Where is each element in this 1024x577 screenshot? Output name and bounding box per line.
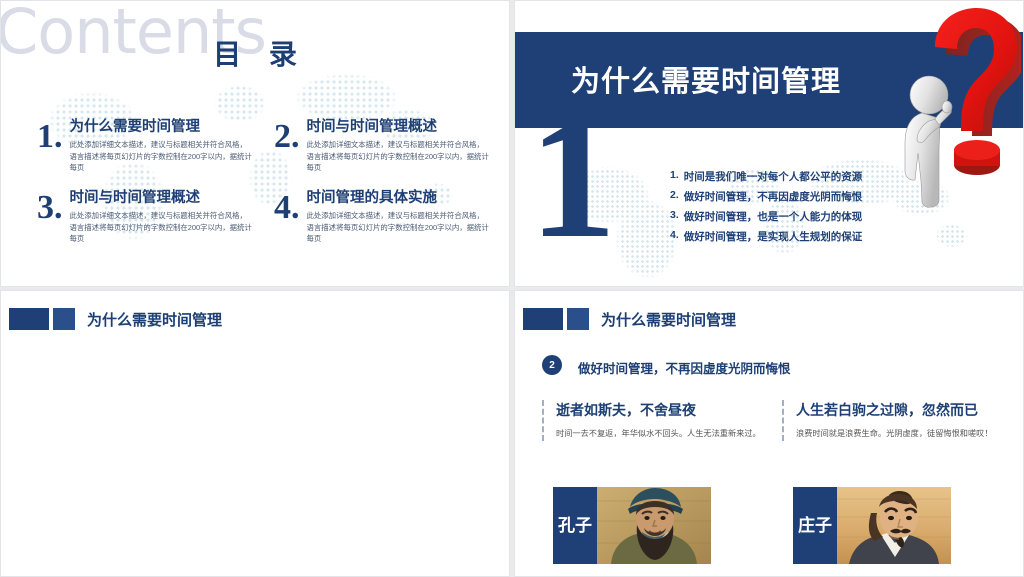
list-item-number: 2. — [670, 189, 679, 204]
list-item-number: 1. — [670, 169, 679, 184]
toc-item-number: 3. — [37, 192, 63, 224]
header-block-large — [9, 308, 49, 330]
section-header-title: 为什么需要时间管理 — [87, 309, 222, 330]
slide-point-one[interactable]: 为什么需要时间管理 1. — [0, 290, 510, 577]
toc-item-description: 此处添加详细文本描述，建议与标题相关并符合风格，语言描述将每页幻灯片的字数控制在… — [307, 210, 492, 244]
list-item: 4. 做好时间管理，是实现人生规划的保证 — [670, 229, 862, 244]
list-item-label: 做好时间管理，也是一个人能力的体现 — [684, 209, 863, 224]
list-item-number: 4. — [670, 229, 679, 244]
header-block-small — [567, 308, 589, 330]
section-header-title: 为什么需要时间管理 — [601, 309, 736, 330]
toc-item-number: 2. — [274, 121, 300, 153]
list-item-number: 3. — [670, 209, 679, 224]
section-header: 为什么需要时间管理 — [9, 308, 222, 330]
toc-item-4[interactable]: 4. 时间管理的具体实施 此处添加详细文本描述，建议与标题相关并符合风格，语言描… — [274, 190, 491, 245]
toc-item-description: 此处添加详细文本描述，建议与标题相关并符合风格，语言描述将每页幻灯片的字数控制在… — [70, 210, 255, 244]
slide-point-two[interactable]: 为什么需要时间管理 — [514, 290, 1024, 577]
slide-table-of-contents[interactable]: Contents 目 录 1. 为什么需要时间管理 此处添加详细文本描述，建议与… — [0, 0, 510, 287]
toc-item-heading: 时间与时间管理概述 — [70, 190, 255, 207]
section-header: 为什么需要时间管理 — [523, 308, 736, 330]
list-item: 3. 做好时间管理，也是一个人能力的体现 — [670, 209, 862, 224]
slide-deck-grid: Contents 目 录 1. 为什么需要时间管理 此处添加详细文本描述，建议与… — [0, 0, 1024, 577]
toc-item-2[interactable]: 2. 时间与时间管理概述 此处添加详细文本描述，建议与标题相关并符合风格，语言描… — [274, 119, 491, 174]
section-big-number: 1 — [529, 109, 617, 246]
toc-item-heading: 时间管理的具体实施 — [307, 190, 492, 207]
list-item-label: 做好时间管理，不再因虚度光阴而悔恨 — [684, 189, 863, 204]
page-title: 目 录 — [1, 33, 509, 73]
toc-item-description: 此处添加详细文本描述，建议与标题相关并符合风格，语言描述将每页幻灯片的字数控制在… — [70, 139, 255, 173]
toc-item-description: 此处添加详细文本描述，建议与标题相关并符合风格，语言描述将每页幻灯片的字数控制在… — [307, 139, 492, 173]
header-block-large — [523, 308, 563, 330]
toc-item-heading: 时间与时间管理概述 — [307, 119, 492, 136]
toc-list: 1. 为什么需要时间管理 此处添加详细文本描述，建议与标题相关并符合风格，语言描… — [37, 119, 491, 245]
section-bullet-list: 1. 时间是我们唯一对每个人都公平的资源 2. 做好时间管理，不再因虚度光阴而悔… — [670, 169, 862, 244]
toc-item-number: 4. — [274, 192, 300, 224]
list-item: 2. 做好时间管理，不再因虚度光阴而悔恨 — [670, 189, 862, 204]
header-block-small — [53, 308, 75, 330]
toc-item-heading: 为什么需要时间管理 — [70, 119, 255, 136]
list-item-label: 时间是我们唯一对每个人都公平的资源 — [684, 169, 863, 184]
toc-item-1[interactable]: 1. 为什么需要时间管理 此处添加详细文本描述，建议与标题相关并符合风格，语言描… — [37, 119, 254, 174]
list-item: 1. 时间是我们唯一对每个人都公平的资源 — [670, 169, 862, 184]
list-item-label: 做好时间管理，是实现人生规划的保证 — [684, 229, 863, 244]
toc-item-3[interactable]: 3. 时间与时间管理概述 此处添加详细文本描述，建议与标题相关并符合风格，语言描… — [37, 190, 254, 245]
toc-item-number: 1. — [37, 121, 63, 153]
slide-section-cover[interactable]: 为什么需要时间管理 1 1. 时间是我们唯一对每个人都公平的资源 2. 做好时间… — [514, 0, 1024, 287]
